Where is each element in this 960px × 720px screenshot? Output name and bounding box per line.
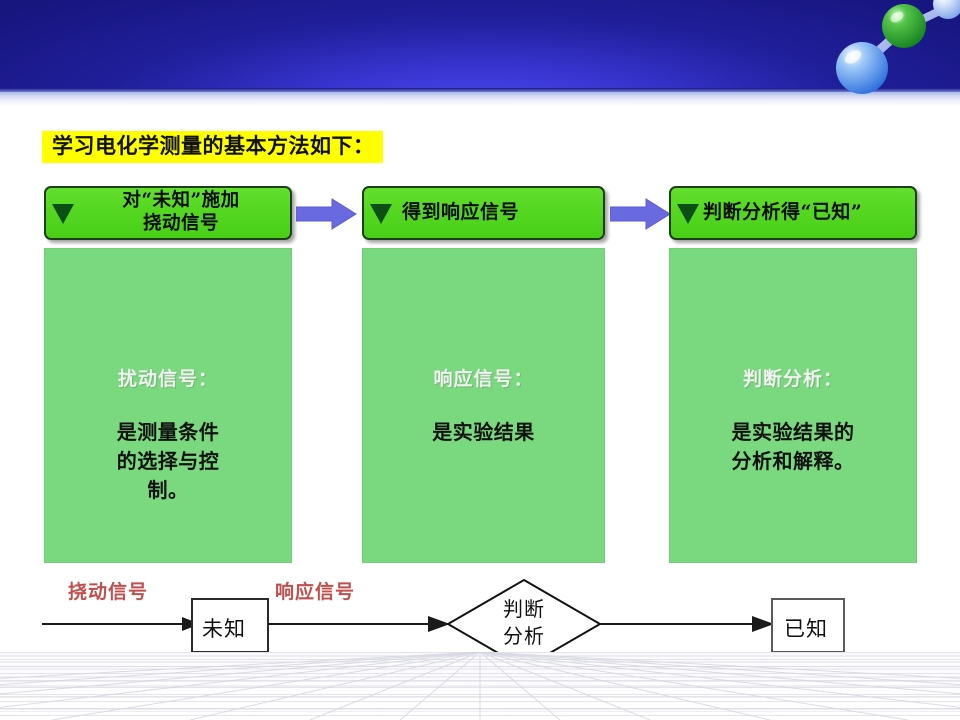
triangle-bullet-icon [677, 204, 699, 224]
panel-header-label: 得到响应信号 [402, 201, 519, 224]
triangle-bullet-icon [52, 204, 74, 224]
flow-label-mid: 响应信号 [275, 577, 355, 604]
panel-header-analysis[interactable]: 判断分析得“已知” [669, 186, 917, 240]
panel-body-label: 扰动信号： [45, 367, 291, 392]
flow-decision-analysis: 判断 分析 [476, 596, 572, 650]
panel-body-label: 响应信号： [363, 367, 604, 392]
panel-body-response: 响应信号： 是实验结果 [362, 248, 605, 563]
panel-body-label: 判断分析： [670, 367, 916, 392]
panel-header-label: 判断分析得“已知” [703, 201, 862, 224]
arrow-col2-to-col3 [610, 197, 672, 235]
panel-body-analysis: 判断分析： 是实验结果的 分析和解释。 [669, 248, 917, 563]
panel-body-text: 是实验结果 [363, 418, 604, 447]
arrow-col1-to-col2 [296, 197, 358, 235]
panel-perturbation: 对“未知”施加 挠动信号 扰动信号： 是测量条件 的选择与控 制。 [44, 186, 292, 563]
flow-box-unknown: 未知 [202, 613, 246, 643]
panel-body-perturbation: 扰动信号： 是测量条件 的选择与控 制。 [44, 248, 292, 563]
panel-analysis: 判断分析得“已知” 判断分析： 是实验结果的 分析和解释。 [669, 186, 917, 563]
flow-box-known: 已知 [784, 613, 828, 643]
flow-label-input: 挠动信号 [68, 577, 148, 604]
perspective-grid-floor [0, 652, 960, 720]
triangle-bullet-icon [370, 204, 392, 224]
panel-body-text: 是测量条件 的选择与控 制。 [45, 418, 291, 505]
panel-header-response[interactable]: 得到响应信号 [362, 186, 605, 240]
panel-body-text: 是实验结果的 分析和解释。 [670, 418, 916, 476]
panel-header-perturbation[interactable]: 对“未知”施加 挠动信号 [44, 186, 292, 240]
page-title: 学习电化学测量的基本方法如下： [42, 131, 383, 163]
molecule-icon [800, 0, 960, 112]
panel-header-label: 对“未知”施加 挠动信号 [72, 190, 290, 235]
slide-canvas: 学习电化学测量的基本方法如下： 对“未知”施加 挠动信号 扰动信号： 是测量条件… [0, 0, 960, 720]
panel-response: 得到响应信号 响应信号： 是实验结果 [362, 186, 605, 563]
